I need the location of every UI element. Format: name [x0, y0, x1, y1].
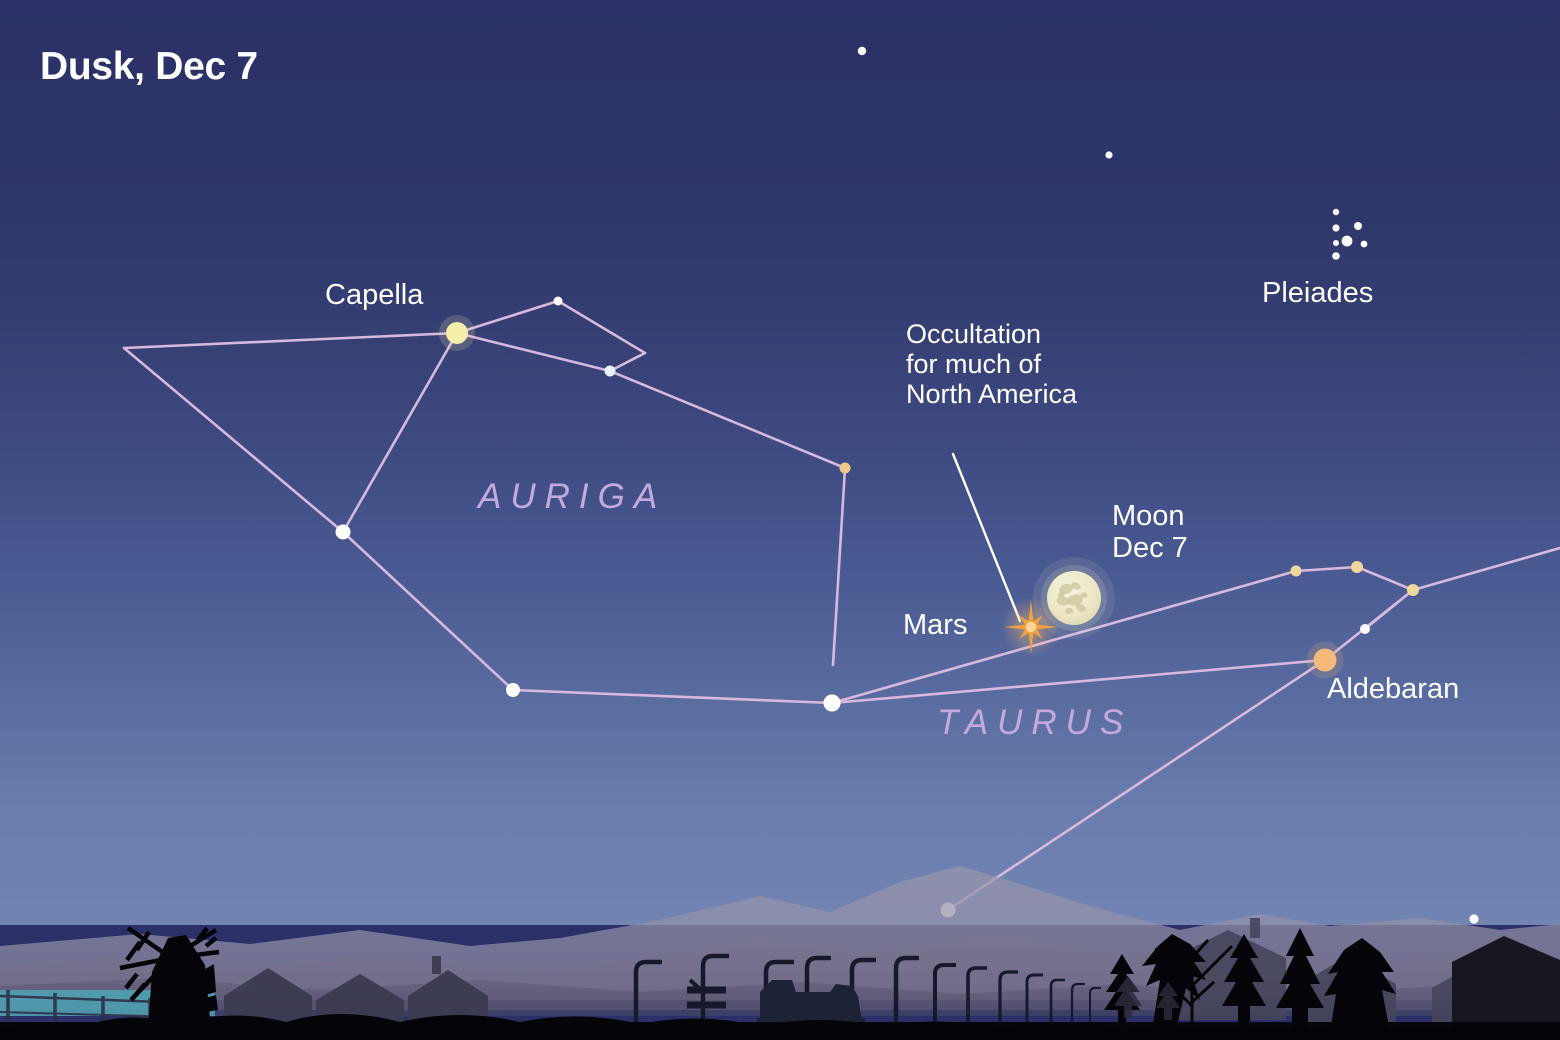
- star-chart-image: Dusk, Dec 7 Capella Pleiades Aldebaran M…: [0, 0, 1560, 1040]
- horizon-landscape: [0, 0, 1560, 1040]
